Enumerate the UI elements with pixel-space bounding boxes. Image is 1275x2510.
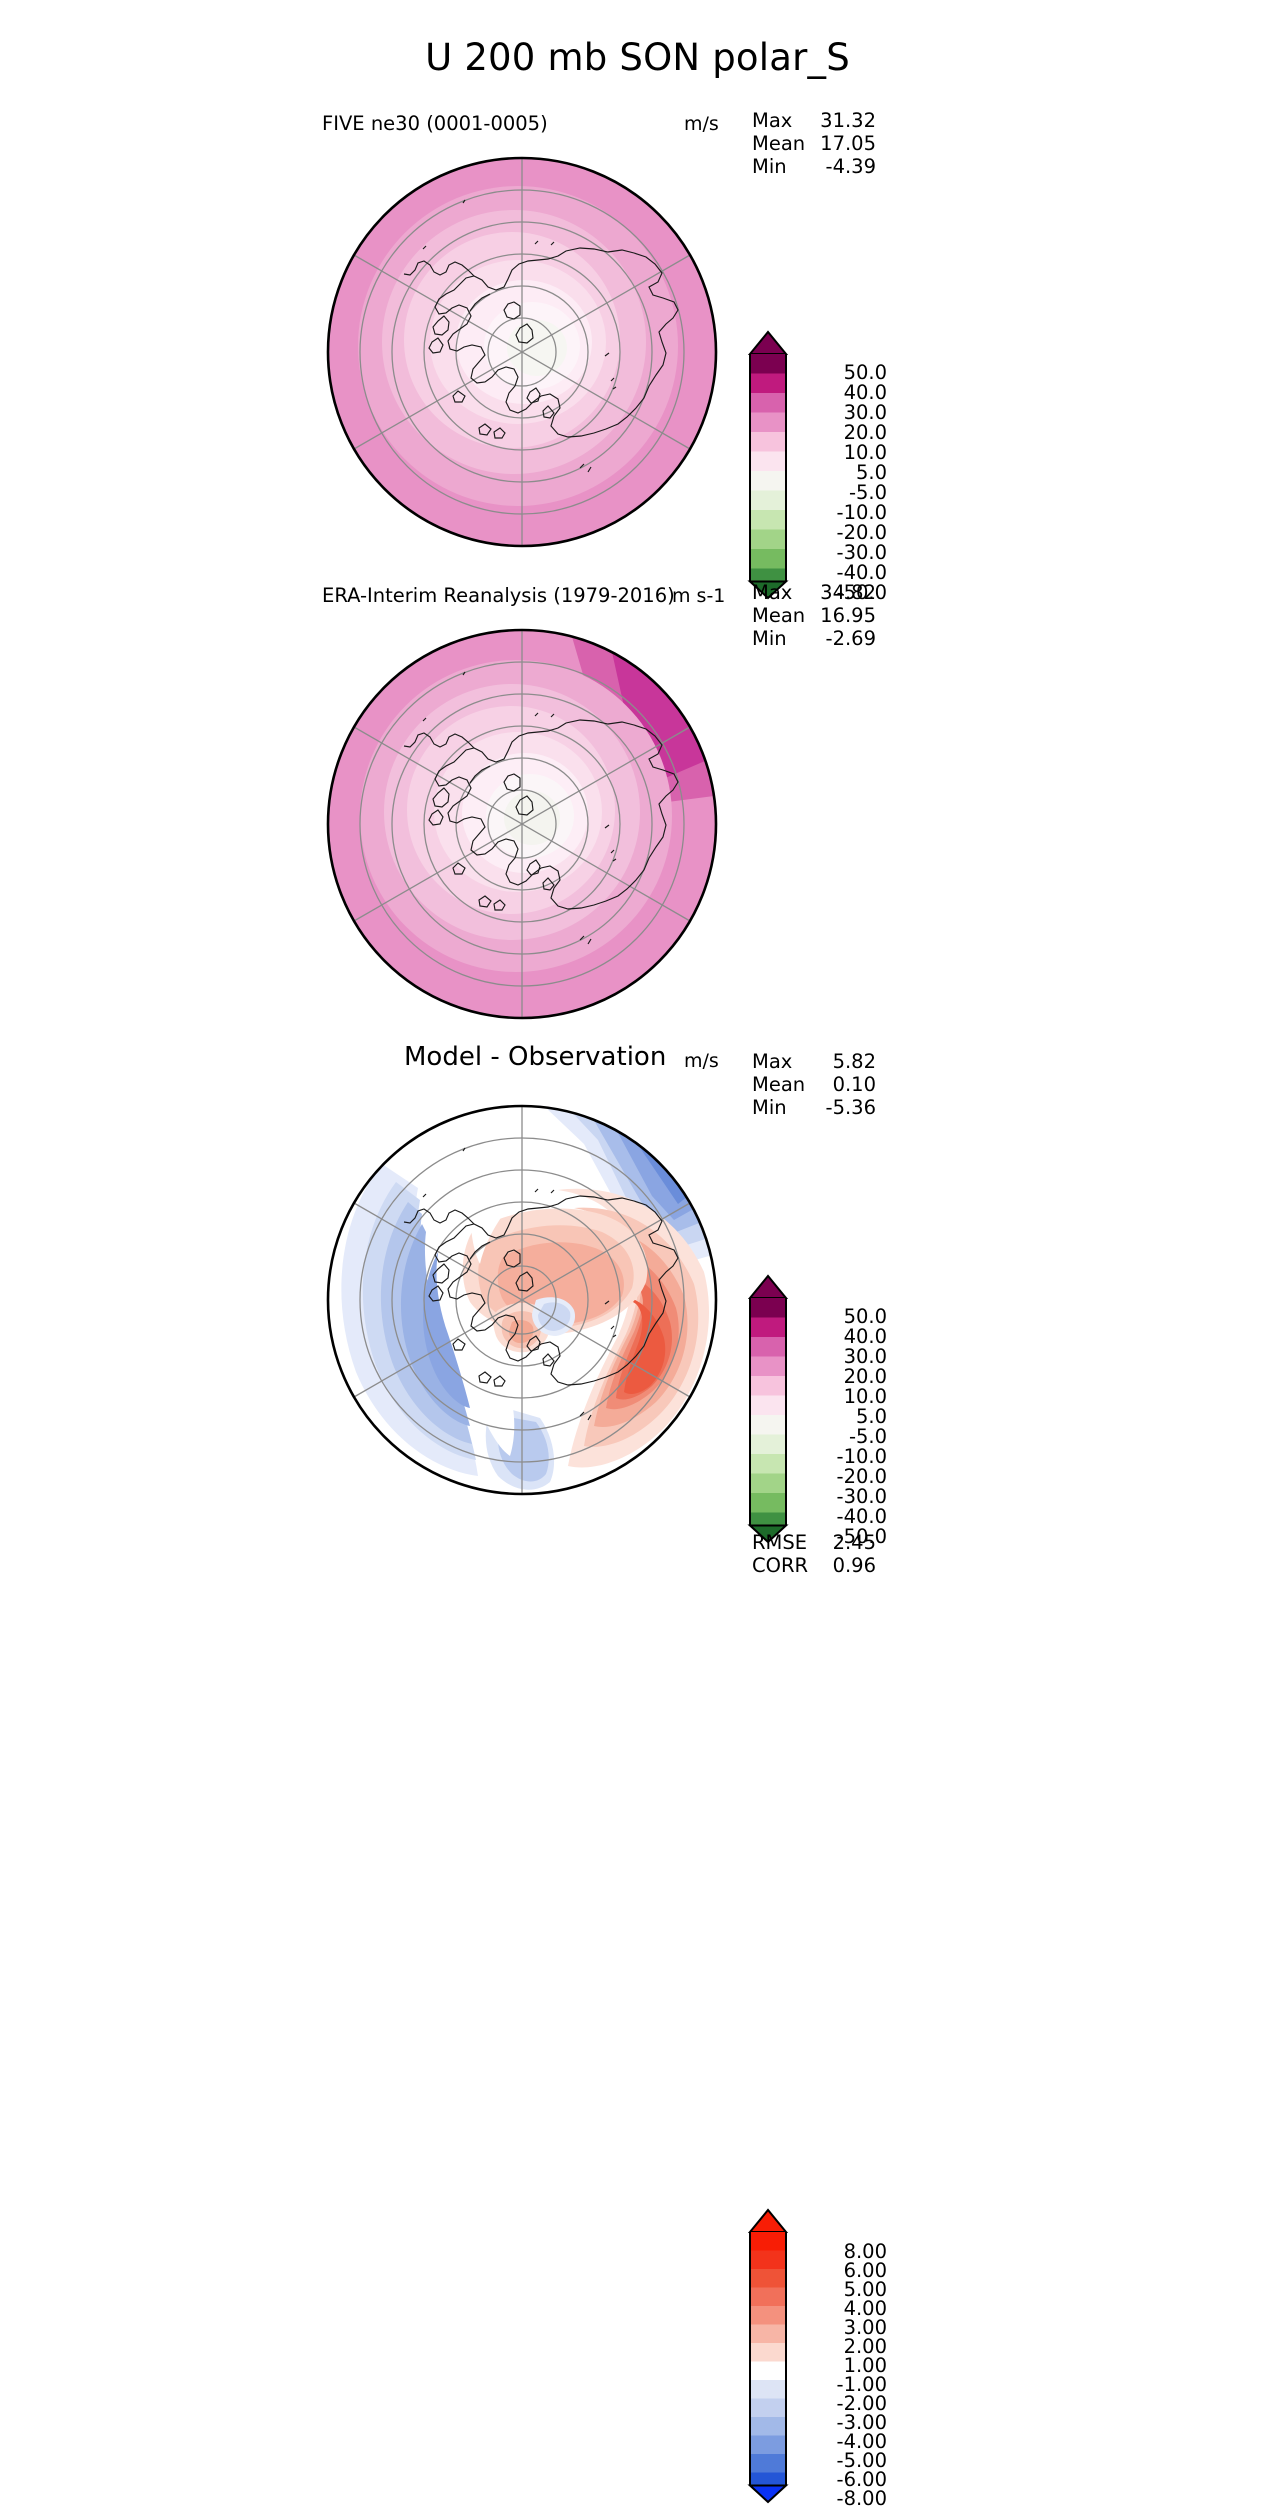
panel-observation-title: ERA-Interim Reanalysis (1979-2016) (322, 584, 675, 607)
rmse-value: 2.45 (833, 1531, 876, 1554)
stat-row: CORR0.96 (752, 1554, 876, 1577)
stat-row: Mean17.05 (752, 132, 876, 155)
panel-difference-title: Model - Observation (404, 1042, 666, 1072)
stat-value: -2.69 (826, 627, 876, 650)
stat-label: Min (752, 155, 787, 178)
tick-label: -8.00 (837, 2487, 887, 2510)
figure-page: U 200 mb SON polar_S FIVE ne30 (0001-000… (0, 0, 1275, 1650)
stat-label: Max (752, 109, 792, 132)
panel-model: FIVE ne30 (0001-0005) m/s Max31.32 Mean1… (0, 112, 1275, 152)
stat-value: 16.95 (820, 604, 876, 627)
stat-label: Max (752, 581, 792, 604)
stat-value: -5.36 (826, 1096, 876, 1119)
panel-difference-units: m/s (684, 1050, 719, 1072)
panel-difference-stats: Max5.82 Mean0.10 Min-5.36 (752, 1050, 876, 1119)
panel-observation: ERA-Interim Reanalysis (1979-2016) m s-1… (0, 584, 1275, 624)
polar-map-model (322, 156, 722, 546)
stat-value: 17.05 (820, 132, 876, 155)
panel-difference: Model - Observation m/s Max5.82 Mean0.10… (0, 1048, 1275, 1088)
panel-observation-stats: Max34.82 Mean16.95 Min-2.69 (752, 581, 876, 650)
stat-row: Min-4.39 (752, 155, 876, 178)
corr-label: CORR (752, 1554, 808, 1577)
stat-label: Mean (752, 1073, 805, 1096)
panel-model-header: FIVE ne30 (0001-0005) m/s Max31.32 Mean1… (0, 112, 1275, 152)
polar-map-difference (322, 1104, 722, 1494)
panel-model-stats: Max31.32 Mean17.05 Min-4.39 (752, 109, 876, 178)
polar-map-observation (322, 628, 722, 1018)
colorbar-model: 50.0 40.0 30.0 20.0 10.0 5.0 -5.0 -10.0 … (745, 328, 885, 600)
stat-label: Mean (752, 604, 805, 627)
page-title: U 200 mb SON polar_S (0, 36, 1275, 79)
stat-row: Min-2.69 (752, 627, 876, 650)
stat-row: Max31.32 (752, 109, 876, 132)
stat-row: Min-5.36 (752, 1096, 876, 1119)
stat-label: Min (752, 627, 787, 650)
stat-value: 34.82 (820, 581, 876, 604)
stat-label: Mean (752, 132, 805, 155)
stat-row: Max34.82 (752, 581, 876, 604)
panel-model-title: FIVE ne30 (0001-0005) (322, 112, 548, 135)
stat-row: Mean0.10 (752, 1073, 876, 1096)
stat-row: RMSE2.45 (752, 1531, 876, 1554)
colorbar-observation: 50.0 40.0 30.0 20.0 10.0 5.0 -5.0 -10.0 … (745, 1272, 885, 1544)
stat-row: Max5.82 (752, 1050, 876, 1073)
stat-label: Max (752, 1050, 792, 1073)
panel-difference-header: Model - Observation m/s Max5.82 Mean0.10… (0, 1048, 1275, 1088)
stat-value: -4.39 (826, 155, 876, 178)
stat-label: Min (752, 1096, 787, 1119)
skill-scores: RMSE2.45 CORR0.96 (752, 1531, 876, 1577)
corr-value: 0.96 (833, 1554, 876, 1577)
stat-value: 0.10 (833, 1073, 876, 1096)
stat-value: 31.32 (820, 109, 876, 132)
stat-value: 5.82 (833, 1050, 876, 1073)
colorbar-difference: 8.00 6.00 5.00 4.00 3.00 2.00 1.00 -1.00… (745, 2206, 885, 2506)
stat-row: Mean16.95 (752, 604, 876, 627)
rmse-label: RMSE (752, 1531, 807, 1554)
panel-observation-units: m s-1 (672, 585, 725, 607)
panel-observation-header: ERA-Interim Reanalysis (1979-2016) m s-1… (0, 584, 1275, 624)
panel-model-units: m/s (684, 113, 719, 135)
